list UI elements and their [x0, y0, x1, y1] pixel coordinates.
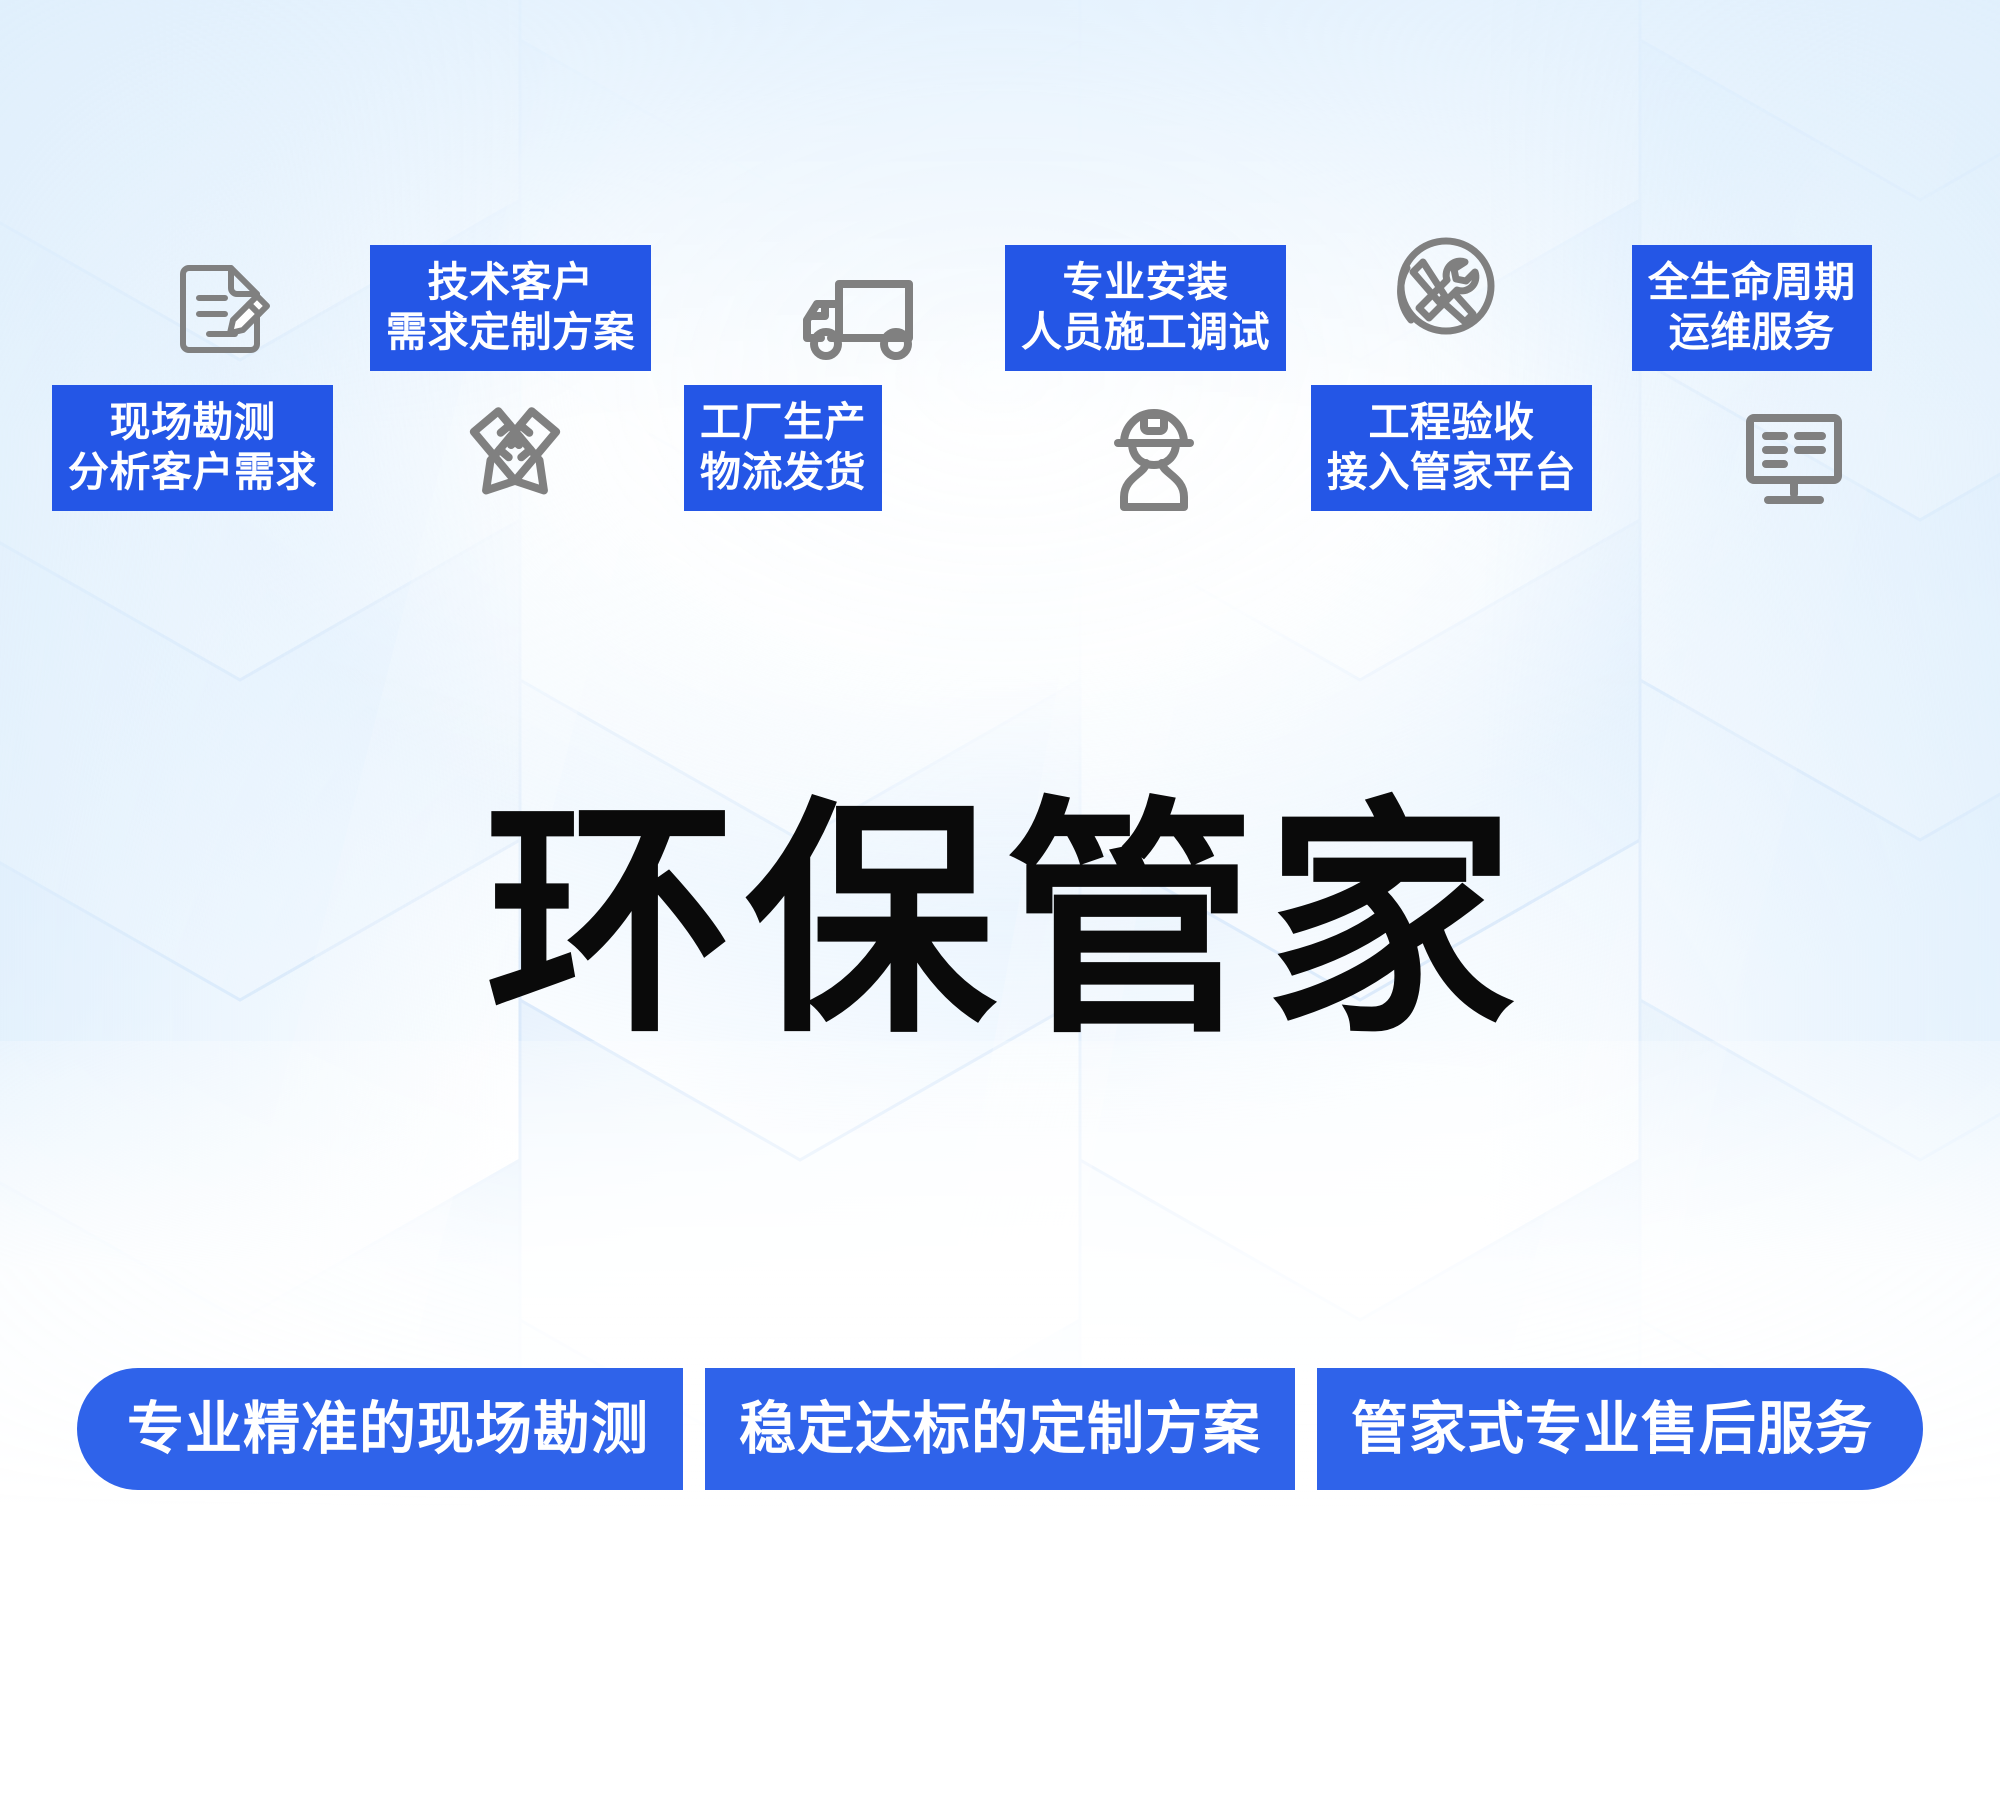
process-badge: 现场勘测 分析客户需求: [52, 385, 333, 511]
tools-circle-icon: [1383, 228, 1503, 348]
process-badge-line1: 工厂生产: [700, 397, 866, 447]
highlight-pill-butler-service[interactable]: 管家式专业售后服务: [1317, 1368, 1923, 1490]
process-badge-line2: 物流发货: [700, 447, 866, 497]
process-badge-line1: 工程验收: [1327, 397, 1576, 447]
process-badge: 技术客户 需求定制方案: [370, 245, 651, 371]
worker-helmet-icon: [1108, 405, 1200, 515]
process-badge: 专业安装 人员施工调试: [1005, 245, 1286, 371]
highlight-pill-row: 专业精准的现场勘测 稳定达标的定制方案 管家式专业售后服务: [0, 1368, 2000, 1490]
process-badge-line2: 接入管家平台: [1327, 447, 1576, 497]
promo-banner: 现场勘测 分析客户需求 技术客户 需求定制方案: [0, 0, 2000, 1794]
ruler-pen-icon: [460, 405, 570, 507]
process-step-factory-logistics[interactable]: 工厂生产 物流发货: [684, 385, 882, 511]
process-icon-custom-solution: [460, 405, 570, 507]
document-edit-icon: [175, 262, 271, 362]
process-badge-line2: 需求定制方案: [386, 307, 635, 357]
process-badge-line2: 人员施工调试: [1021, 307, 1270, 357]
process-badge: 工厂生产 物流发货: [684, 385, 882, 511]
monitor-icon: [1742, 410, 1846, 510]
process-step-installation[interactable]: 专业安装 人员施工调试: [1005, 245, 1286, 371]
highlight-pill-accurate-survey[interactable]: 专业精准的现场勘测: [77, 1368, 683, 1490]
process-badge-line1: 技术客户: [386, 257, 635, 307]
process-step-acceptance[interactable]: 工程验收 接入管家平台: [1311, 385, 1592, 511]
process-icon-factory-logistics: [795, 270, 921, 366]
process-badge-line1: 现场勘测: [68, 397, 317, 447]
highlight-pill-label: 专业精准的现场勘测: [127, 1401, 649, 1458]
process-icon-acceptance: [1383, 228, 1503, 348]
process-badge-line2: 运维服务: [1648, 307, 1856, 357]
process-icon-site-survey: [175, 262, 271, 362]
highlight-pill-label: 稳定达标的定制方案: [739, 1401, 1261, 1458]
process-badge: 工程验收 接入管家平台: [1311, 385, 1592, 511]
process-icon-installation: [1108, 405, 1200, 515]
process-badge-line2: 分析客户需求: [68, 447, 317, 497]
truck-icon: [795, 270, 921, 366]
process-badge-line1: 专业安装: [1021, 257, 1270, 307]
page-title: 环保管家: [0, 800, 2000, 1050]
highlight-pill-stable-solution[interactable]: 稳定达标的定制方案: [705, 1368, 1295, 1490]
process-step-custom-solution[interactable]: 技术客户 需求定制方案: [370, 245, 651, 371]
process-icon-lifecycle-service: [1742, 410, 1846, 510]
highlight-pill-label: 管家式专业售后服务: [1351, 1401, 1873, 1458]
process-step-lifecycle-service[interactable]: 全生命周期 运维服务: [1632, 245, 1872, 371]
process-step-site-survey[interactable]: 现场勘测 分析客户需求: [52, 385, 333, 511]
process-badge: 全生命周期 运维服务: [1632, 245, 1872, 371]
process-badge-line1: 全生命周期: [1648, 257, 1856, 307]
